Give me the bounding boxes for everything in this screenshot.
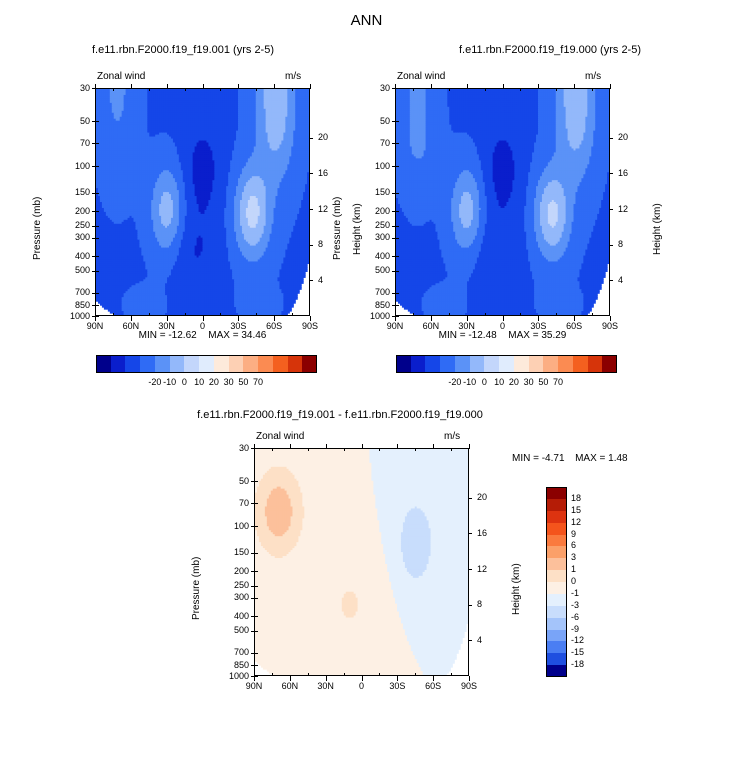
x-tick-label: 30N [308,682,344,691]
colorbar-outline [96,355,317,373]
height-tick-label: 8 [477,600,497,609]
colorbar-outline [396,355,617,373]
minmax-test-case: MIN = -12.62 MAX = 34.46 [95,330,310,341]
x-tick-mark-top [167,84,168,89]
x-tick-mark-top [397,444,398,449]
y-tick-mark-inner [96,143,99,144]
colorbar-tick-label: -12 [571,636,597,645]
height-tick-label: 8 [618,240,638,249]
x-tick-minor-top [185,88,186,91]
height-tick-label: 4 [318,276,338,285]
units-label-test: m/s [285,71,301,82]
x-tick-minor-top [485,88,486,91]
x-tick-mark-top [467,84,468,89]
y-axis-label-difference: Pressure (mb) [191,557,202,620]
y-tick-label: 70 [363,139,390,148]
y-tick-label: 100 [363,162,390,171]
contour-field [396,89,609,315]
y-tick-mark-inner [255,631,258,632]
y-tick-label: 30 [63,84,90,93]
height-tick-mark [309,138,313,139]
colorbar-tick-label: 9 [571,530,597,539]
y-tick-mark-inner [255,571,258,572]
y-tick-label: 150 [222,548,249,557]
x-tick-mark-top [469,444,470,449]
y-tick-label: 200 [63,207,90,216]
y2-axis-label-difference: Height (km) [511,563,522,615]
x-tick-minor-top [220,88,221,91]
y-tick-label: 100 [222,522,249,531]
x-tick-minor [520,313,521,316]
y2-axis-label-test: Height (km) [352,203,363,255]
y-tick-mark-inner [96,193,99,194]
y-tick-mark-inner [255,481,258,482]
height-tick-label: 20 [318,133,338,142]
y-tick-label: 400 [63,252,90,261]
y-tick-label: 500 [63,266,90,275]
y-tick-mark-inner [255,616,258,617]
x-tick-minor-top [520,88,521,91]
y-tick-label: 700 [222,648,249,657]
x-tick-mark [131,316,132,321]
panel-difference: f.e11.rbn.F2000.f19_f19.001 - f.e11.rbn.… [0,400,733,700]
x-tick-minor-top [113,88,114,91]
y-tick-mark-inner [96,305,99,306]
height-tick-label: 12 [618,205,638,214]
colorbar-tick-label: 0 [571,577,597,586]
x-tick-mark-top [290,444,291,449]
y-tick-label: 1000 [63,312,90,321]
x-tick-mark-top [238,84,239,89]
min-value-test: MIN = -12.62 [139,330,197,341]
x-tick-mark-top [574,84,575,89]
max-value-control: MAX = 35.29 [508,330,566,341]
y-tick-mark-inner [255,526,258,527]
y-tick-label: 30 [363,84,390,93]
y-tick-label: 100 [63,162,90,171]
units-label-difference: m/s [444,431,460,442]
x-tick-mark [395,316,396,321]
colorbar-tick-label: 1 [571,565,597,574]
y-tick-mark-inner [96,226,99,227]
height-tick-mark [468,569,472,570]
y-tick-label: 500 [363,266,390,275]
x-tick-mark-top [254,444,255,449]
y-tick-label: 300 [363,233,390,242]
height-tick-mark [468,605,472,606]
colorbar-difference [546,487,567,677]
y-tick-label: 150 [63,188,90,197]
x-tick-minor-top [451,448,452,451]
y-tick-mark-inner [96,271,99,272]
height-tick-mark [609,138,613,139]
colorbar-tick-label: 18 [571,494,597,503]
y-tick-mark-inner [255,653,258,654]
height-tick-label: 16 [618,169,638,178]
colorbar-tick-label: 12 [571,518,597,527]
x-tick-minor-top [308,448,309,451]
x-tick-minor [272,673,273,676]
x-tick-label: 60S [415,682,451,691]
x-tick-mark-top [431,84,432,89]
y-tick-label: 200 [363,207,390,216]
plot-area-test-case [95,88,310,316]
height-tick-mark [468,640,472,641]
x-tick-mark [397,676,398,681]
height-tick-mark [309,280,313,281]
colorbar-tick-label: 15 [571,506,597,515]
y-tick-mark-inner [255,665,258,666]
height-tick-mark [609,209,613,210]
max-value-test: MAX = 34.46 [208,330,266,341]
y-tick-label: 850 [222,661,249,670]
x-tick-mark [362,676,363,681]
height-tick-label: 16 [318,169,338,178]
y-tick-label: 300 [63,233,90,242]
x-tick-minor-top [449,88,450,91]
colorbar-tick-label: -6 [571,613,597,622]
minmax-difference: MIN = -4.71 MAX = 1.48 [512,453,628,464]
x-tick-mark-top [274,84,275,89]
y-tick-mark-inner [96,293,99,294]
panel-control-case: f.e11.rbn.F2000.f19_f19.000 (yrs 2-5) Zo… [367,0,733,400]
y-tick-label: 50 [63,117,90,126]
colorbar-tick-label: -3 [571,601,597,610]
x-tick-minor-top [413,88,414,91]
y-tick-mark-inner [396,143,399,144]
colorbar-tick-label: 70 [242,378,274,387]
x-tick-mark [274,316,275,321]
y-tick-mark-inner [96,88,99,89]
variable-label-test: Zonal wind [97,71,145,82]
x-tick-mark-top [362,444,363,449]
x-tick-mark [431,316,432,321]
y-tick-label: 500 [222,626,249,635]
x-tick-mark-top [538,84,539,89]
panel-title-test-case: f.e11.rbn.F2000.f19_f19.001 (yrs 2-5) [0,44,366,56]
x-tick-label: 90S [451,682,487,691]
x-tick-mark [469,676,470,681]
y-tick-mark-inner [396,226,399,227]
y-tick-label: 850 [363,301,390,310]
y-tick-mark-inner [396,88,399,89]
colorbar-tick-label: 70 [542,378,574,387]
y-tick-mark-inner [255,676,258,677]
x-tick-mark [467,316,468,321]
x-tick-mark [167,316,168,321]
x-tick-minor [185,313,186,316]
y2-axis-label-control: Height (km) [652,203,663,255]
panel-title-difference: f.e11.rbn.F2000.f19_f19.001 - f.e11.rbn.… [100,409,580,421]
height-tick-label: 16 [477,529,497,538]
x-tick-label: 30S [379,682,415,691]
height-tick-label: 20 [477,493,497,502]
colorbar-tick-label: 6 [571,541,597,550]
y-tick-mark-inner [396,166,399,167]
colorbar-outline [546,487,567,677]
x-tick-mark [538,316,539,321]
min-value-control: MIN = -12.48 [439,330,497,341]
x-tick-minor [592,313,593,316]
contour-field [96,89,309,315]
x-tick-mark-top [395,84,396,89]
y-tick-label: 150 [363,188,390,197]
x-tick-mark [310,316,311,321]
min-value-difference: MIN = -4.71 [512,453,565,464]
x-tick-minor [449,313,450,316]
colorbar-tick-label: -15 [571,648,597,657]
x-tick-minor-top [592,88,593,91]
y-tick-mark-inner [255,448,258,449]
y-tick-mark-inner [396,256,399,257]
colorbar-absolute-test [96,355,317,373]
colorbar-tick-label: -1 [571,589,597,598]
colorbar-absolute-control [396,355,617,373]
x-tick-label: 0 [344,682,380,691]
x-tick-minor-top [344,448,345,451]
y-tick-mark-inner [396,305,399,306]
x-tick-minor [413,313,414,316]
x-tick-minor [256,313,257,316]
x-tick-minor [308,673,309,676]
y-tick-label: 50 [222,477,249,486]
x-tick-minor-top [256,88,257,91]
y-tick-label: 400 [222,612,249,621]
x-tick-mark [503,316,504,321]
y-tick-mark-inner [396,193,399,194]
x-tick-mark-top [503,84,504,89]
x-tick-mark [203,316,204,321]
panel-test-case: f.e11.rbn.F2000.f19_f19.001 (yrs 2-5) Zo… [0,0,366,400]
plot-area-difference [254,448,469,676]
x-tick-mark-top [433,444,434,449]
x-tick-minor [451,673,452,676]
y-tick-mark-inner [96,166,99,167]
x-tick-mark [254,676,255,681]
y-tick-label: 700 [63,288,90,297]
y-tick-mark-inner [396,316,399,317]
x-tick-mark [290,676,291,681]
height-tick-mark [309,173,313,174]
contour-field [255,449,468,675]
y-tick-label: 1000 [222,672,249,681]
x-tick-minor [113,313,114,316]
y-axis-label-test: Pressure (mb) [32,197,43,260]
y-tick-label: 850 [63,301,90,310]
y-tick-label: 400 [363,252,390,261]
height-tick-mark [468,498,472,499]
x-tick-minor-top [272,448,273,451]
x-tick-mark [95,316,96,321]
height-tick-mark [609,173,613,174]
y-tick-mark-inner [255,503,258,504]
x-tick-minor [485,313,486,316]
colorbar-tick-label: -9 [571,625,597,634]
y-tick-mark-inner [396,271,399,272]
y-tick-label: 200 [222,567,249,576]
y-tick-label: 250 [222,581,249,590]
y-tick-label: 1000 [363,312,390,321]
y-tick-label: 700 [363,288,390,297]
height-tick-label: 4 [477,636,497,645]
x-tick-label: 90N [236,682,272,691]
y-tick-mark-inner [96,238,99,239]
height-tick-mark [309,209,313,210]
y-tick-label: 250 [363,221,390,230]
x-tick-mark-top [95,84,96,89]
y-tick-label: 300 [222,593,249,602]
y-tick-mark-inner [396,211,399,212]
x-tick-mark-top [610,84,611,89]
x-tick-mark-top [131,84,132,89]
y-axis-label-control: Pressure (mb) [332,197,343,260]
plot-area-control-case [395,88,610,316]
panel-title-control-case: f.e11.rbn.F2000.f19_f19.000 (yrs 2-5) [367,44,733,56]
x-tick-minor [149,313,150,316]
height-tick-mark [309,245,313,246]
height-tick-mark [468,533,472,534]
y-tick-mark-inner [96,211,99,212]
x-tick-minor-top [415,448,416,451]
units-label-control: m/s [585,71,601,82]
y-tick-label: 30 [222,444,249,453]
x-tick-mark-top [203,84,204,89]
colorbar-tick-label: -18 [571,660,597,669]
height-tick-mark [609,245,613,246]
x-tick-minor [415,673,416,676]
colorbar-tick-label: 3 [571,553,597,562]
x-tick-mark [433,676,434,681]
x-tick-mark-top [310,84,311,89]
x-tick-minor-top [149,88,150,91]
x-tick-minor-top [556,88,557,91]
minmax-control-case: MIN = -12.48 MAX = 35.29 [395,330,610,341]
y-tick-label: 50 [363,117,390,126]
height-tick-label: 4 [618,276,638,285]
variable-label-control: Zonal wind [397,71,445,82]
y-tick-label: 70 [63,139,90,148]
y-tick-mark-inner [96,121,99,122]
height-tick-mark [609,280,613,281]
x-tick-minor [344,673,345,676]
x-tick-mark [574,316,575,321]
max-value-difference: MAX = 1.48 [575,453,628,464]
x-tick-minor-top [379,448,380,451]
x-tick-mark [238,316,239,321]
height-tick-label: 20 [618,133,638,142]
y-tick-mark-inner [255,598,258,599]
x-tick-minor [292,313,293,316]
y-tick-mark-inner [396,293,399,294]
x-tick-mark-top [326,444,327,449]
y-tick-mark-inner [255,553,258,554]
y-tick-mark-inner [255,586,258,587]
x-tick-minor [556,313,557,316]
x-tick-label: 60N [272,682,308,691]
x-tick-mark [610,316,611,321]
y-tick-mark-inner [96,256,99,257]
y-tick-label: 70 [222,499,249,508]
variable-label-difference: Zonal wind [256,431,304,442]
y-tick-mark-inner [96,316,99,317]
x-tick-minor [220,313,221,316]
x-tick-mark [326,676,327,681]
x-tick-minor [379,673,380,676]
y-tick-label: 250 [63,221,90,230]
x-tick-minor-top [292,88,293,91]
y-tick-mark-inner [396,121,399,122]
height-tick-label: 12 [477,565,497,574]
y-tick-mark-inner [396,238,399,239]
